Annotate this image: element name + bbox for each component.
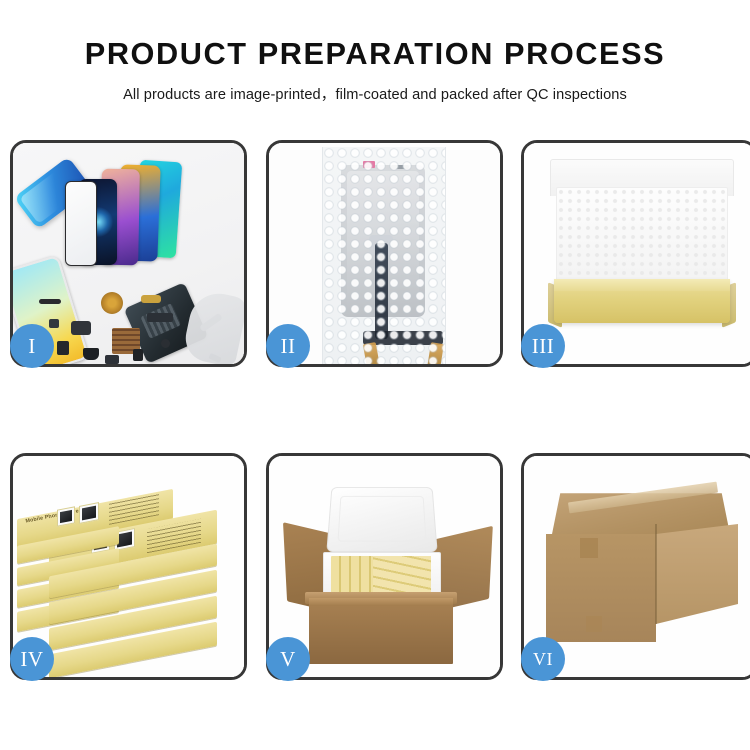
part-sensor	[49, 319, 59, 328]
carton-flap-seam-top	[580, 538, 598, 558]
yellow-boxes-inside-right	[373, 556, 431, 594]
white-foam-sheet	[556, 187, 728, 285]
part-camera-cap	[83, 348, 99, 360]
carton-flap-seam-bottom	[586, 616, 602, 632]
step-panel-2: II	[266, 140, 503, 367]
part-gold-contact	[141, 295, 161, 303]
part-small-chip	[105, 355, 119, 364]
carton-side-face	[656, 524, 738, 624]
foam-box-lid	[326, 487, 437, 552]
part-speaker-coil	[101, 292, 123, 314]
part-button	[133, 349, 143, 361]
part-home-button	[161, 339, 170, 348]
bubble-texture	[323, 147, 445, 364]
step-badge-2: II	[266, 324, 310, 368]
product-preparation-infographic: PRODUCT PREPARATION PROCESS All products…	[0, 0, 750, 750]
screen-protector-glass	[65, 181, 97, 266]
step-panel-3: III	[521, 140, 750, 367]
step-panel-4: Mobile Phone Spare Parts Mobile Phone Sp…	[10, 453, 247, 680]
step-badge-5: V	[266, 637, 310, 681]
step-badge-4: IV	[10, 637, 54, 681]
part-module	[71, 321, 91, 335]
carton-vertical-edge	[655, 524, 657, 624]
yellow-box-tray	[554, 279, 730, 323]
carton-body	[309, 598, 453, 664]
bubble-wrap-bag	[322, 147, 446, 364]
step-panel-5: V	[266, 453, 503, 680]
steps-grid: I II	[0, 0, 750, 750]
part-cable	[147, 313, 173, 322]
step-panel-1: I	[10, 140, 247, 367]
step-panel-6: VI	[521, 453, 750, 680]
step-badge-1: I	[10, 324, 54, 368]
part-flex-strip	[39, 299, 61, 304]
stack-box-back-window-1	[57, 506, 75, 526]
step-badge-6: VI	[521, 637, 565, 681]
part-sim-tray	[57, 341, 69, 355]
step-badge-3: III	[521, 324, 565, 368]
